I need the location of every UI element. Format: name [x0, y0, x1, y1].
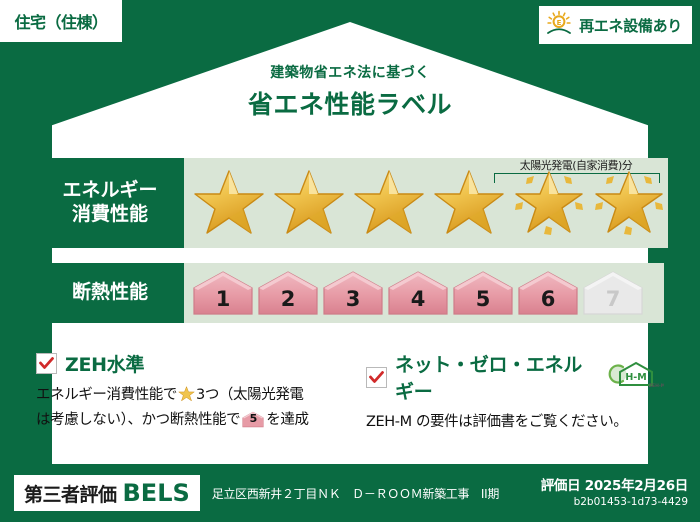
- footer-bar: 第三者評価 BELS 足立区西新井２丁目ＮＫ Ｄ－ＲＯＯＭ新築工事 II期 評価…: [0, 464, 700, 522]
- grade-badge-1: 1: [192, 270, 254, 316]
- svg-text:E: E: [557, 19, 562, 27]
- bels-jp-label: 第三者評価: [24, 480, 117, 507]
- solar-sun-icon: E: [545, 10, 573, 40]
- renewable-equipment-badge: E 再エネ設備あり: [539, 6, 692, 44]
- bels-en-label: BELS: [123, 479, 190, 507]
- net-zero-energy-header: ネット・ゼロ・エネルギー H-M ZEH-M: [366, 350, 664, 404]
- star-icon-solar: [590, 163, 668, 243]
- grade-number: 7: [606, 287, 621, 316]
- grade-number: 5: [476, 287, 491, 316]
- inline-grade-number: 5: [242, 410, 264, 427]
- star-icon: [350, 163, 428, 243]
- building-type-label: 住宅（住棟）: [14, 9, 107, 33]
- grade-number: 6: [541, 287, 556, 316]
- building-type-tag: 住宅（住棟）: [0, 0, 122, 42]
- energy-label-root: 住宅（住棟） E 再エネ設備あり 建築物省エネ法に基づ: [0, 0, 700, 522]
- grade-badge-3: 3: [322, 270, 384, 316]
- star-icon: [190, 163, 268, 243]
- zeh-standard-header: ZEH水準: [36, 350, 334, 377]
- net-zero-energy-title: ネット・ゼロ・エネルギー: [395, 350, 594, 404]
- project-name: 足立区西新井２丁目ＮＫ Ｄ－ＲＯＯＭ新築工事 II期: [212, 485, 541, 502]
- page-title: 建築物省エネ法に基づく 省エネ性能ラベル: [0, 62, 700, 121]
- statements-area: ZEH水準 エネルギー消費性能で3つ（太陽光発電 は考慮しない）、かつ断熱性能で…: [36, 350, 664, 433]
- grade-number: 3: [346, 287, 361, 316]
- insulation-row-label-text: 断熱性能: [72, 281, 148, 305]
- star-icon: [430, 163, 508, 243]
- grade-badge-4: 4: [387, 270, 449, 316]
- zeh-standard-statement: ZEH水準 エネルギー消費性能で3つ（太陽光発電 は考慮しない）、かつ断熱性能で…: [36, 350, 344, 433]
- checkbox-checked-icon: [366, 367, 387, 388]
- star-icon: [270, 163, 348, 243]
- renewable-badge-label: 再エネ設備あり: [579, 15, 682, 36]
- insulation-row-label: 断熱性能: [36, 263, 184, 323]
- net-zero-energy-statement: ネット・ゼロ・エネルギー H-M ZEH-M ZEH-M の要件は評価書をご覧く…: [344, 350, 664, 433]
- checkbox-checked-icon: [36, 353, 57, 374]
- grade-badge-6: 6: [517, 270, 579, 316]
- grade-number: 4: [411, 287, 426, 316]
- zeh-standard-body: エネルギー消費性能で3つ（太陽光発電 は考慮しない）、かつ断熱性能で5を達成: [36, 384, 334, 432]
- energy-performance-row: エネルギー 消費性能 太陽光発電(自家消費)分: [36, 158, 664, 248]
- zeh-body-part2: 3つ（太陽光発電: [196, 387, 304, 403]
- zeh-m-logo-icon: H-M ZEH-M: [606, 360, 664, 394]
- grade-badge-7: 7: [582, 270, 644, 316]
- evaluation-info: 評価日 2025年2月26日 b2b01453-1d73-4429: [541, 477, 688, 509]
- grade-badge-2: 2: [257, 270, 319, 316]
- star-rating-group: [184, 163, 668, 243]
- grade-number: 2: [281, 287, 296, 316]
- energy-star-track: 太陽光発電(自家消費)分: [184, 158, 668, 248]
- zeh-body-part1: エネルギー消費性能で: [36, 387, 177, 403]
- energy-row-label-line1: エネルギー: [62, 179, 157, 203]
- insulation-grade-track: 1 2 3: [184, 263, 664, 323]
- grade-number: 1: [216, 287, 231, 316]
- energy-row-label-line2: 消費性能: [72, 203, 148, 227]
- energy-row-label: エネルギー 消費性能: [36, 158, 184, 248]
- insulation-performance-row: 断熱性能 1: [36, 263, 664, 323]
- zeh-body-part3: は考慮しない）、かつ断熱性能で: [36, 412, 240, 428]
- svg-text:ZEH-M: ZEH-M: [649, 383, 664, 389]
- zeh-standard-title: ZEH水準: [65, 350, 144, 377]
- evaluation-id: b2b01453-1d73-4429: [541, 495, 688, 509]
- insulation-grade-group: 1 2 3: [184, 270, 644, 316]
- grade-badge-5: 5: [452, 270, 514, 316]
- zeh-body-part4: を達成: [266, 412, 308, 428]
- bels-badge: 第三者評価 BELS: [14, 475, 200, 511]
- inline-grade-badge-icon: 5: [242, 411, 264, 428]
- net-zero-energy-body: ZEH-M の要件は評価書をご覧ください。: [366, 411, 664, 433]
- title-subline: 建築物省エネ法に基づく: [0, 62, 700, 82]
- svg-text:H-M: H-M: [625, 372, 646, 383]
- title-mainline: 省エネ性能ラベル: [0, 85, 700, 121]
- inline-star-icon: [178, 386, 195, 409]
- evaluation-date: 評価日 2025年2月26日: [541, 477, 688, 495]
- star-icon-solar: [510, 163, 588, 243]
